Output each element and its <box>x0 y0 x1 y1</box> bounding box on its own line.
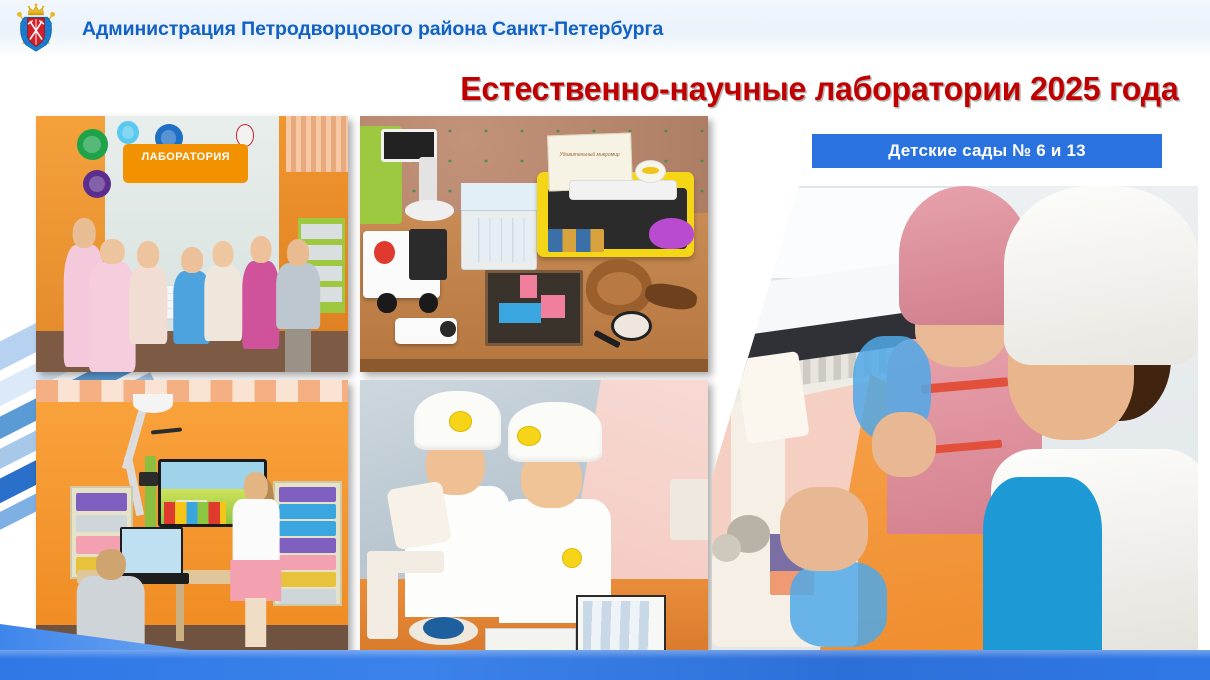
paper-roll <box>569 180 677 200</box>
toy-figures <box>164 502 226 524</box>
child-hand <box>780 487 867 572</box>
desk-lamp-head <box>133 394 174 413</box>
document-camera-post <box>145 456 156 527</box>
kindergarten-badge: Детские сады № 6 и 13 <box>812 134 1162 168</box>
specimen-pack-contents <box>583 601 649 651</box>
microscope-column <box>367 551 398 639</box>
gear-decal-cyan <box>117 121 139 144</box>
page-title: Естественно-научные лаборатории 2025 год… <box>460 70 1178 108</box>
photo-lab-group: ЛАБОРАТОРИЯ <box>36 116 348 372</box>
window-blind <box>286 116 348 172</box>
photo-lab-coats <box>360 380 708 656</box>
child-figure <box>130 241 167 343</box>
gear-decal-purple <box>83 170 111 198</box>
specimen-slides <box>468 218 531 262</box>
magnet-figure <box>541 295 565 318</box>
photo-lab-group-scene: ЛАБОРАТОРИЯ <box>36 116 348 372</box>
photo-lab-coats-scene <box>360 380 708 656</box>
child-hand <box>872 412 935 478</box>
photo-microscope-scene <box>712 186 1198 656</box>
photo-equipment-scene: Удивительный микромир <box>360 116 708 372</box>
storage-shelf-right <box>273 481 342 606</box>
specimen-case-lid <box>461 183 538 211</box>
robot-wheel <box>377 293 396 313</box>
laboratory-sign-text: ЛАБОРАТОРИЯ <box>123 151 248 163</box>
child-in-lab-coat <box>499 402 610 623</box>
child-in-white-cap <box>1004 186 1198 656</box>
ceiling-border <box>36 380 348 402</box>
robot-dark-module <box>409 229 447 280</box>
microscope-eyepiece <box>386 481 451 550</box>
photo-microscope <box>712 186 1198 656</box>
science-book-title: Удивительный микромир <box>555 152 625 158</box>
photo-computer-scene <box>36 380 348 652</box>
microscope-eyepiece <box>736 351 810 444</box>
header-organization-title: Администрация Петродворцового района Сан… <box>82 18 663 41</box>
photo-computer <box>36 380 348 652</box>
child-figure <box>242 236 279 349</box>
child-figure <box>276 239 320 372</box>
gear-decal-green <box>77 129 108 160</box>
equipment-cylinder <box>670 479 708 540</box>
document-camera-head <box>139 472 158 486</box>
child-standing <box>233 472 280 646</box>
picture-cards <box>548 229 604 252</box>
owl-sticker <box>635 160 666 183</box>
header: Администрация Петродворцового района Сан… <box>0 0 1210 58</box>
desk-leg <box>176 581 184 641</box>
child-figure <box>204 241 241 341</box>
table-edge <box>360 359 708 372</box>
bee-bot-toy <box>649 218 694 249</box>
footer-bar <box>0 650 1210 680</box>
microscope-focus-knob <box>712 534 741 562</box>
blue-sleeve <box>790 562 887 647</box>
coat-of-arms-icon <box>12 3 60 55</box>
photo-equipment: Удивительный микромир <box>360 116 708 372</box>
footer-sheen <box>0 650 1210 659</box>
magnet-figure <box>520 275 537 298</box>
slide-canvas: Администрация Петродворцового района Сан… <box>0 0 1210 680</box>
remote-joystick <box>440 321 456 338</box>
magnet-figure <box>499 303 541 323</box>
kindergarten-badge-label: Детские сады № 6 и 13 <box>888 141 1086 161</box>
digital-microscope-base <box>405 200 454 220</box>
beaver-face <box>597 272 642 305</box>
